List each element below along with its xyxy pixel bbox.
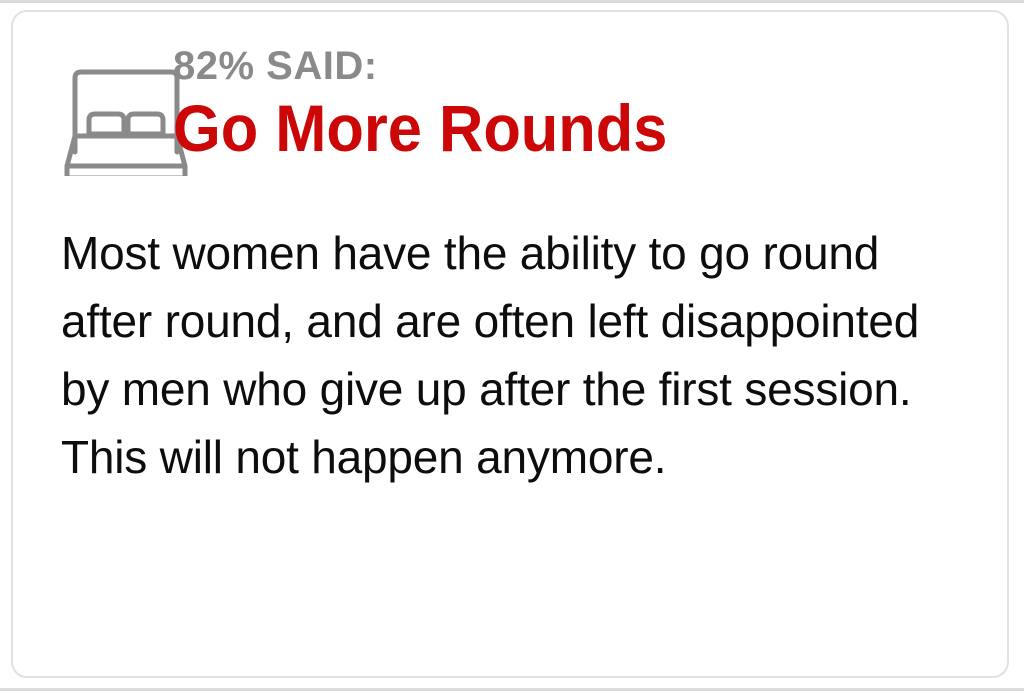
header-text-block: 82% SAID: Go More Rounds (173, 12, 1007, 163)
body-paragraph: Most women have the ability to go round … (61, 219, 961, 491)
page-bottom-divider (0, 688, 1024, 691)
card-header: 82% SAID: Go More Rounds (13, 12, 1007, 176)
eyebrow-stat: 82% SAID: (173, 46, 1007, 86)
page-top-divider (0, 0, 1024, 3)
bed-icon (61, 56, 191, 176)
bed-icon-container (13, 12, 173, 176)
info-card: 82% SAID: Go More Rounds Most women have… (11, 10, 1009, 678)
page-title: Go More Rounds (173, 94, 949, 163)
